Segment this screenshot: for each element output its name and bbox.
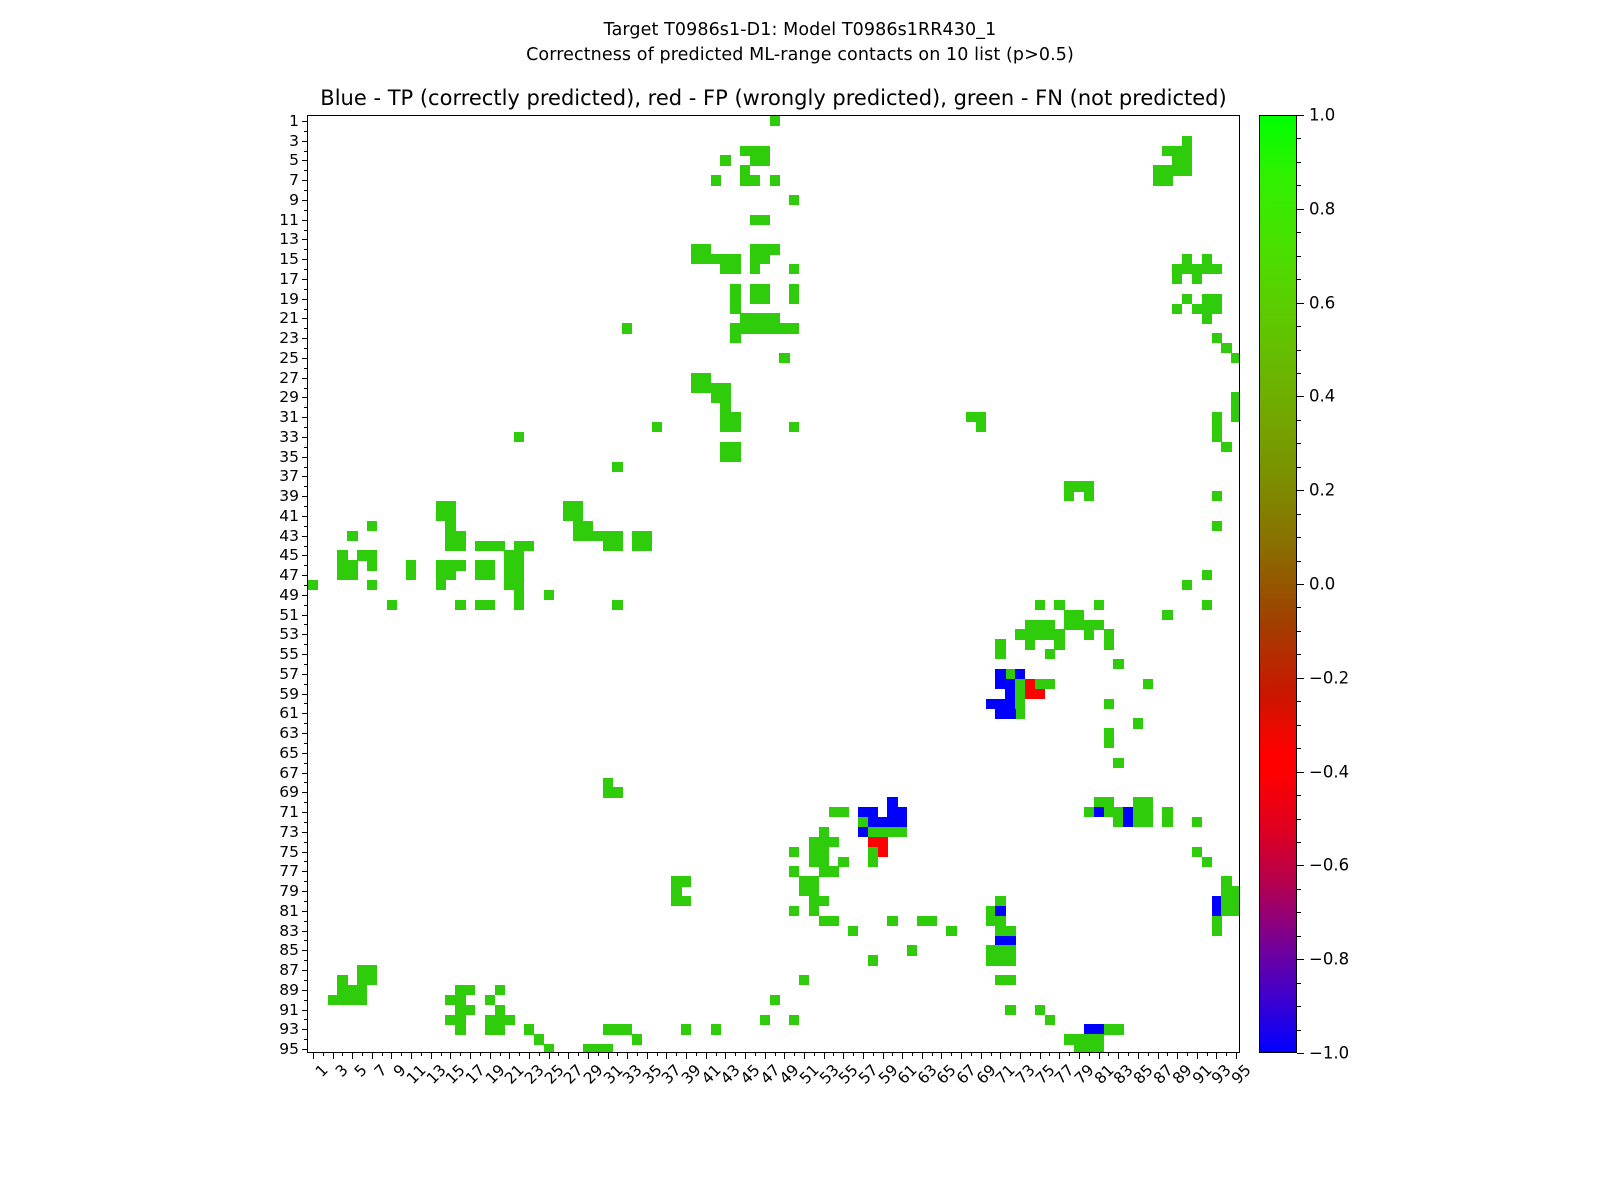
contact-cell: [995, 639, 1005, 649]
contact-cell: [1035, 600, 1045, 610]
contact-cell: [1212, 264, 1222, 274]
contact-cell: [1005, 1005, 1015, 1015]
contact-cell: [1005, 679, 1015, 689]
colorbar-tick-minor: [1297, 725, 1301, 726]
y-axis-tick-label: 15: [279, 250, 299, 268]
contact-cell: [878, 837, 888, 847]
contact-cell: [1035, 689, 1045, 699]
contact-cell: [789, 866, 799, 876]
contact-cell: [995, 945, 1005, 955]
contact-cell: [455, 560, 465, 570]
x-tick-minor: [598, 1052, 599, 1056]
contact-cell: [573, 521, 583, 531]
contact-cell: [1074, 1044, 1084, 1052]
contact-cell: [1143, 817, 1153, 827]
contact-cell: [750, 146, 760, 156]
x-tick-major: [568, 1052, 569, 1059]
contact-cell: [1182, 136, 1192, 146]
contact-cell: [848, 926, 858, 936]
contact-cell: [730, 304, 740, 314]
contact-cell: [1015, 689, 1025, 699]
contact-cell: [603, 531, 613, 541]
x-tick-major: [1000, 1052, 1001, 1059]
contact-cell: [995, 896, 1005, 906]
x-tick-major: [509, 1052, 510, 1059]
y-tick-minor: [304, 743, 308, 744]
contact-cell: [1172, 146, 1182, 156]
contact-cell: [1133, 718, 1143, 728]
contact-cell: [770, 175, 780, 185]
contact-cell: [1035, 620, 1045, 630]
y-axis-tick-label: 27: [279, 369, 299, 387]
contact-cell: [829, 807, 839, 817]
contact-cell: [347, 995, 357, 1005]
contact-cell: [583, 521, 593, 531]
contact-cell: [504, 550, 514, 560]
contact-cell: [1064, 620, 1074, 630]
y-tick-major: [302, 733, 309, 734]
y-axis-tick-label: 63: [279, 724, 299, 742]
contact-cell: [1015, 699, 1025, 709]
contact-cell: [1231, 353, 1239, 363]
contact-cell: [995, 955, 1005, 965]
y-tick-minor: [304, 388, 308, 389]
y-axis-tick-label: 89: [279, 981, 299, 999]
contact-cell: [740, 313, 750, 323]
contact-cell: [445, 531, 455, 541]
contact-cell: [809, 886, 819, 896]
x-tick-major: [470, 1052, 471, 1059]
x-tick-minor: [951, 1052, 952, 1056]
contact-cell: [927, 916, 937, 926]
contact-cell: [1162, 165, 1172, 175]
x-tick-minor: [1089, 1052, 1090, 1056]
y-tick-minor: [304, 763, 308, 764]
contact-cell: [1074, 1034, 1084, 1044]
contact-cell: [573, 511, 583, 521]
y-tick-major: [302, 437, 309, 438]
y-tick-minor: [304, 269, 308, 270]
contact-cell: [337, 995, 347, 1005]
y-axis-tick-label: 93: [279, 1020, 299, 1038]
suptitle-line-2: Correctness of predicted ML-range contac…: [0, 43, 1600, 68]
x-axis-tick-label: 95: [1228, 1061, 1255, 1088]
suptitle-line-1: Target T0986s1-D1: Model T0986s1RR430_1: [0, 18, 1600, 43]
y-axis-tick-label: 7: [289, 171, 299, 189]
contact-cell: [573, 531, 583, 541]
contact-cell: [1182, 146, 1192, 156]
contact-cell: [465, 1005, 475, 1015]
y-tick-minor: [304, 427, 308, 428]
x-tick-major: [981, 1052, 982, 1059]
y-axis-tick-label: 83: [279, 922, 299, 940]
contact-cell: [789, 906, 799, 916]
contact-cell: [495, 1015, 505, 1025]
contact-cell: [455, 985, 465, 995]
contact-cell: [1212, 521, 1222, 531]
contact-cell: [1123, 807, 1133, 817]
y-axis-tick-label: 21: [279, 309, 299, 327]
contact-cell: [1094, 1044, 1104, 1052]
contact-cell: [1094, 600, 1104, 610]
x-tick-major: [863, 1052, 864, 1059]
y-axis-tick-label: 71: [279, 803, 299, 821]
y-tick-major: [302, 259, 309, 260]
contact-cell: [485, 570, 495, 580]
y-tick-major: [302, 595, 309, 596]
contact-cell: [750, 244, 760, 254]
y-tick-minor: [304, 782, 308, 783]
figure-suptitle: Target T0986s1-D1: Model T0986s1RR430_1 …: [0, 18, 1600, 68]
contact-cell: [779, 353, 789, 363]
contact-cell: [720, 383, 730, 393]
contact-cell: [1221, 886, 1231, 896]
x-tick-major: [549, 1052, 550, 1059]
contact-map-plot-area[interactable]: 1357911131517192123252729313335373941434…: [307, 115, 1240, 1053]
y-tick-major: [302, 1029, 309, 1030]
contact-cell: [770, 244, 780, 254]
contact-cell: [514, 541, 524, 551]
contact-cell: [1045, 679, 1055, 689]
y-tick-minor: [304, 210, 308, 211]
y-tick-minor: [304, 684, 308, 685]
contact-cell: [622, 323, 632, 333]
y-axis-tick-label: 41: [279, 507, 299, 525]
colorbar-tick-minor: [1297, 842, 1301, 843]
y-axis-tick-label: 79: [279, 882, 299, 900]
x-tick-minor: [696, 1052, 697, 1056]
y-axis-tick-label: 45: [279, 546, 299, 564]
y-tick-major: [302, 773, 309, 774]
contact-cell: [1054, 629, 1064, 639]
x-tick-minor: [362, 1052, 363, 1056]
y-tick-minor: [304, 1000, 308, 1001]
y-tick-minor: [304, 1039, 308, 1040]
y-tick-minor: [304, 960, 308, 961]
y-axis-tick-label: 9: [289, 191, 299, 209]
x-tick-minor: [971, 1052, 972, 1056]
x-axis-tick-label: 3: [332, 1061, 352, 1081]
x-tick-minor: [676, 1052, 677, 1056]
colorbar-tick-minor: [1297, 350, 1301, 351]
contact-cell: [1192, 304, 1202, 314]
contact-cell: [740, 146, 750, 156]
contact-cell: [1221, 876, 1231, 886]
contact-cell: [809, 847, 819, 857]
x-tick-minor: [1207, 1052, 1208, 1056]
y-tick-minor: [304, 585, 308, 586]
contact-cell: [1182, 155, 1192, 165]
contact-cell: [1212, 896, 1222, 906]
contact-cell: [750, 294, 760, 304]
colorbar-tick-minor: [1297, 443, 1301, 444]
contact-cell: [337, 985, 347, 995]
contact-cell: [671, 876, 681, 886]
y-tick-major: [302, 141, 309, 142]
contact-cell: [455, 1015, 465, 1025]
x-tick-minor: [441, 1052, 442, 1056]
contact-cell: [868, 857, 878, 867]
y-tick-minor: [304, 289, 308, 290]
x-tick-major: [1099, 1052, 1100, 1059]
contact-cell: [445, 560, 455, 570]
y-tick-major: [302, 457, 309, 458]
contact-cell: [995, 975, 1005, 985]
contact-cell: [1035, 629, 1045, 639]
colorbar-tick: [1297, 772, 1304, 773]
contact-cell: [887, 827, 897, 837]
contact-cell: [1045, 620, 1055, 630]
contact-cell: [1005, 669, 1015, 679]
y-axis-tick-label: 17: [279, 270, 299, 288]
axes-title-legend: Blue - TP (correctly predicted), red - F…: [307, 86, 1240, 110]
x-tick-major: [745, 1052, 746, 1059]
contact-cell: [1005, 926, 1015, 936]
colorbar-tick-label: 0.2: [1309, 481, 1335, 500]
contact-cell: [750, 215, 760, 225]
contact-cell: [642, 541, 652, 551]
contact-cell: [730, 264, 740, 274]
y-axis-tick-label: 43: [279, 527, 299, 545]
y-tick-major: [302, 358, 309, 359]
x-tick-minor: [873, 1052, 874, 1056]
contact-cell: [838, 807, 848, 817]
y-tick-major: [302, 1049, 309, 1050]
x-tick-minor: [1128, 1052, 1129, 1056]
x-tick-major: [1020, 1052, 1021, 1059]
y-tick-minor: [304, 901, 308, 902]
contact-cell: [485, 995, 495, 1005]
contact-cell: [691, 244, 701, 254]
contact-cell: [475, 600, 485, 610]
contact-cell: [1084, 1044, 1094, 1052]
x-tick-major: [1059, 1052, 1060, 1059]
contact-cell: [1113, 817, 1123, 827]
contact-cell: [1221, 442, 1231, 452]
contact-cell: [1221, 906, 1231, 916]
colorbar-tick-minor: [1297, 795, 1301, 796]
contact-cell: [1035, 679, 1045, 689]
contact-cell: [720, 254, 730, 264]
contact-cell: [1104, 639, 1114, 649]
contact-cell: [593, 1044, 603, 1052]
contact-cell: [534, 1034, 544, 1044]
y-tick-minor: [304, 1019, 308, 1020]
contact-cell: [1104, 728, 1114, 738]
y-axis-tick-label: 57: [279, 665, 299, 683]
colorbar-tick-label: −0.4: [1309, 762, 1349, 781]
x-tick-major: [352, 1052, 353, 1059]
x-tick-minor: [617, 1052, 618, 1056]
x-tick-major: [608, 1052, 609, 1059]
contact-cell: [1182, 294, 1192, 304]
y-tick-minor: [304, 921, 308, 922]
contact-cell: [897, 827, 907, 837]
contact-cell: [357, 975, 367, 985]
contact-cell: [730, 254, 740, 264]
contact-cell: [711, 383, 721, 393]
y-axis-tick-label: 51: [279, 606, 299, 624]
x-tick-minor: [912, 1052, 913, 1056]
colorbar-tick-minor: [1297, 537, 1301, 538]
contact-cell: [711, 175, 721, 185]
x-tick-minor: [1108, 1052, 1109, 1056]
x-tick-major: [647, 1052, 648, 1059]
contact-cell: [563, 501, 573, 511]
contact-cell: [632, 1034, 642, 1044]
contact-cell: [1182, 254, 1192, 264]
x-tick-minor: [382, 1052, 383, 1056]
y-axis-tick-label: 53: [279, 625, 299, 643]
x-tick-major: [1158, 1052, 1159, 1059]
y-axis-tick-label: 61: [279, 704, 299, 722]
contact-cell: [720, 442, 730, 452]
contact-cell: [1084, 620, 1094, 630]
contact-cell: [347, 570, 357, 580]
contact-cell: [868, 817, 878, 827]
y-axis-tick-label: 85: [279, 941, 299, 959]
contact-cell: [907, 945, 917, 955]
x-tick-major: [1040, 1052, 1041, 1059]
x-tick-minor: [657, 1052, 658, 1056]
contact-cell: [1045, 649, 1055, 659]
contact-cell: [1005, 708, 1015, 718]
contact-cell: [995, 936, 1005, 946]
contact-cell: [337, 550, 347, 560]
x-tick-minor: [637, 1052, 638, 1056]
colorbar-tick-minor: [1297, 420, 1301, 421]
x-axis-tick-label: 5: [351, 1061, 371, 1081]
contact-cell: [1113, 659, 1123, 669]
contact-cell: [760, 323, 770, 333]
y-tick-major: [302, 990, 309, 991]
contact-cell: [1202, 264, 1212, 274]
contact-cell: [495, 1005, 505, 1015]
contact-cell: [701, 383, 711, 393]
y-tick-major: [302, 555, 309, 556]
contact-cell: [544, 590, 554, 600]
contact-cell: [1015, 669, 1025, 679]
x-tick-major: [588, 1052, 589, 1059]
contact-cell: [652, 422, 662, 432]
contact-cell: [1172, 264, 1182, 274]
contact-cell: [514, 600, 524, 610]
contact-cell: [789, 284, 799, 294]
contact-cell: [1231, 412, 1239, 422]
contact-cell: [1231, 886, 1239, 896]
contact-cell: [1064, 481, 1074, 491]
contact-cell: [760, 284, 770, 294]
colorbar-tick-minor: [1297, 326, 1301, 327]
contact-cell: [1212, 491, 1222, 501]
contact-cell: [514, 590, 524, 600]
x-tick-major: [941, 1052, 942, 1059]
contact-cell: [1182, 165, 1192, 175]
contact-cell: [986, 945, 996, 955]
contact-cell: [1054, 600, 1064, 610]
y-tick-major: [302, 694, 309, 695]
colorbar-tick-label: −0.2: [1309, 668, 1349, 687]
colorbar-tick: [1297, 959, 1304, 960]
contact-cell: [1162, 807, 1172, 817]
y-tick-major: [302, 832, 309, 833]
contact-cell: [445, 501, 455, 511]
colorbar[interactable]: 1.00.80.60.40.20.0−0.2−0.4−0.6−0.8−1.0: [1259, 115, 1297, 1053]
contact-cell: [612, 600, 622, 610]
colorbar-tick-minor: [1297, 701, 1301, 702]
y-tick-major: [302, 852, 309, 853]
colorbar-tick-label: 0.6: [1309, 293, 1335, 312]
contact-cell: [819, 896, 829, 906]
contact-cell: [720, 264, 730, 274]
contact-cell: [720, 412, 730, 422]
contact-cell: [642, 531, 652, 541]
y-axis-tick-label: 65: [279, 744, 299, 762]
contact-cell: [1133, 817, 1143, 827]
contact-cell: [760, 294, 770, 304]
contact-cell: [1025, 629, 1035, 639]
contact-cell: [1212, 304, 1222, 314]
contact-cell: [1172, 165, 1182, 175]
y-tick-minor: [304, 467, 308, 468]
contact-cell: [671, 896, 681, 906]
contact-cell: [701, 244, 711, 254]
x-tick-major: [902, 1052, 903, 1059]
colorbar-tick-label: −1.0: [1309, 1044, 1349, 1063]
contact-cell: [1192, 274, 1202, 284]
contact-cell: [455, 541, 465, 551]
contact-cell: [1025, 620, 1035, 630]
contact-cell: [789, 422, 799, 432]
contact-cell: [986, 916, 996, 926]
y-tick-minor: [304, 664, 308, 665]
x-tick-minor: [1167, 1052, 1168, 1056]
colorbar-tick: [1297, 396, 1304, 397]
y-tick-major: [302, 378, 309, 379]
contact-cell: [838, 857, 848, 867]
contact-cell: [1005, 955, 1015, 965]
contact-cell: [878, 817, 888, 827]
contact-cell: [1104, 807, 1114, 817]
y-tick-major: [302, 654, 309, 655]
y-tick-minor: [304, 881, 308, 882]
contact-cell: [1084, 491, 1094, 501]
colorbar-tick-minor: [1297, 936, 1301, 937]
x-tick-major: [765, 1052, 766, 1059]
y-tick-minor: [304, 723, 308, 724]
contact-cell: [367, 580, 377, 590]
y-tick-minor: [304, 526, 308, 527]
colorbar-tick-minor: [1297, 1006, 1301, 1007]
contact-cell: [887, 797, 897, 807]
contact-cell: [1005, 945, 1015, 955]
x-tick-major: [1118, 1052, 1119, 1059]
contact-cell: [485, 1015, 495, 1025]
contact-cell: [612, 1024, 622, 1034]
contact-cell: [995, 916, 1005, 926]
contact-cell: [367, 560, 377, 570]
x-tick-minor: [716, 1052, 717, 1056]
y-tick-minor: [304, 170, 308, 171]
y-axis-tick-label: 5: [289, 151, 299, 169]
contact-cell: [357, 985, 367, 995]
colorbar-tick-label: 1.0: [1309, 106, 1335, 125]
contact-cell: [1113, 807, 1123, 817]
contact-cell: [770, 323, 780, 333]
colorbar-tick: [1297, 1053, 1304, 1054]
contact-cell: [603, 541, 613, 551]
contact-cell: [1192, 847, 1202, 857]
